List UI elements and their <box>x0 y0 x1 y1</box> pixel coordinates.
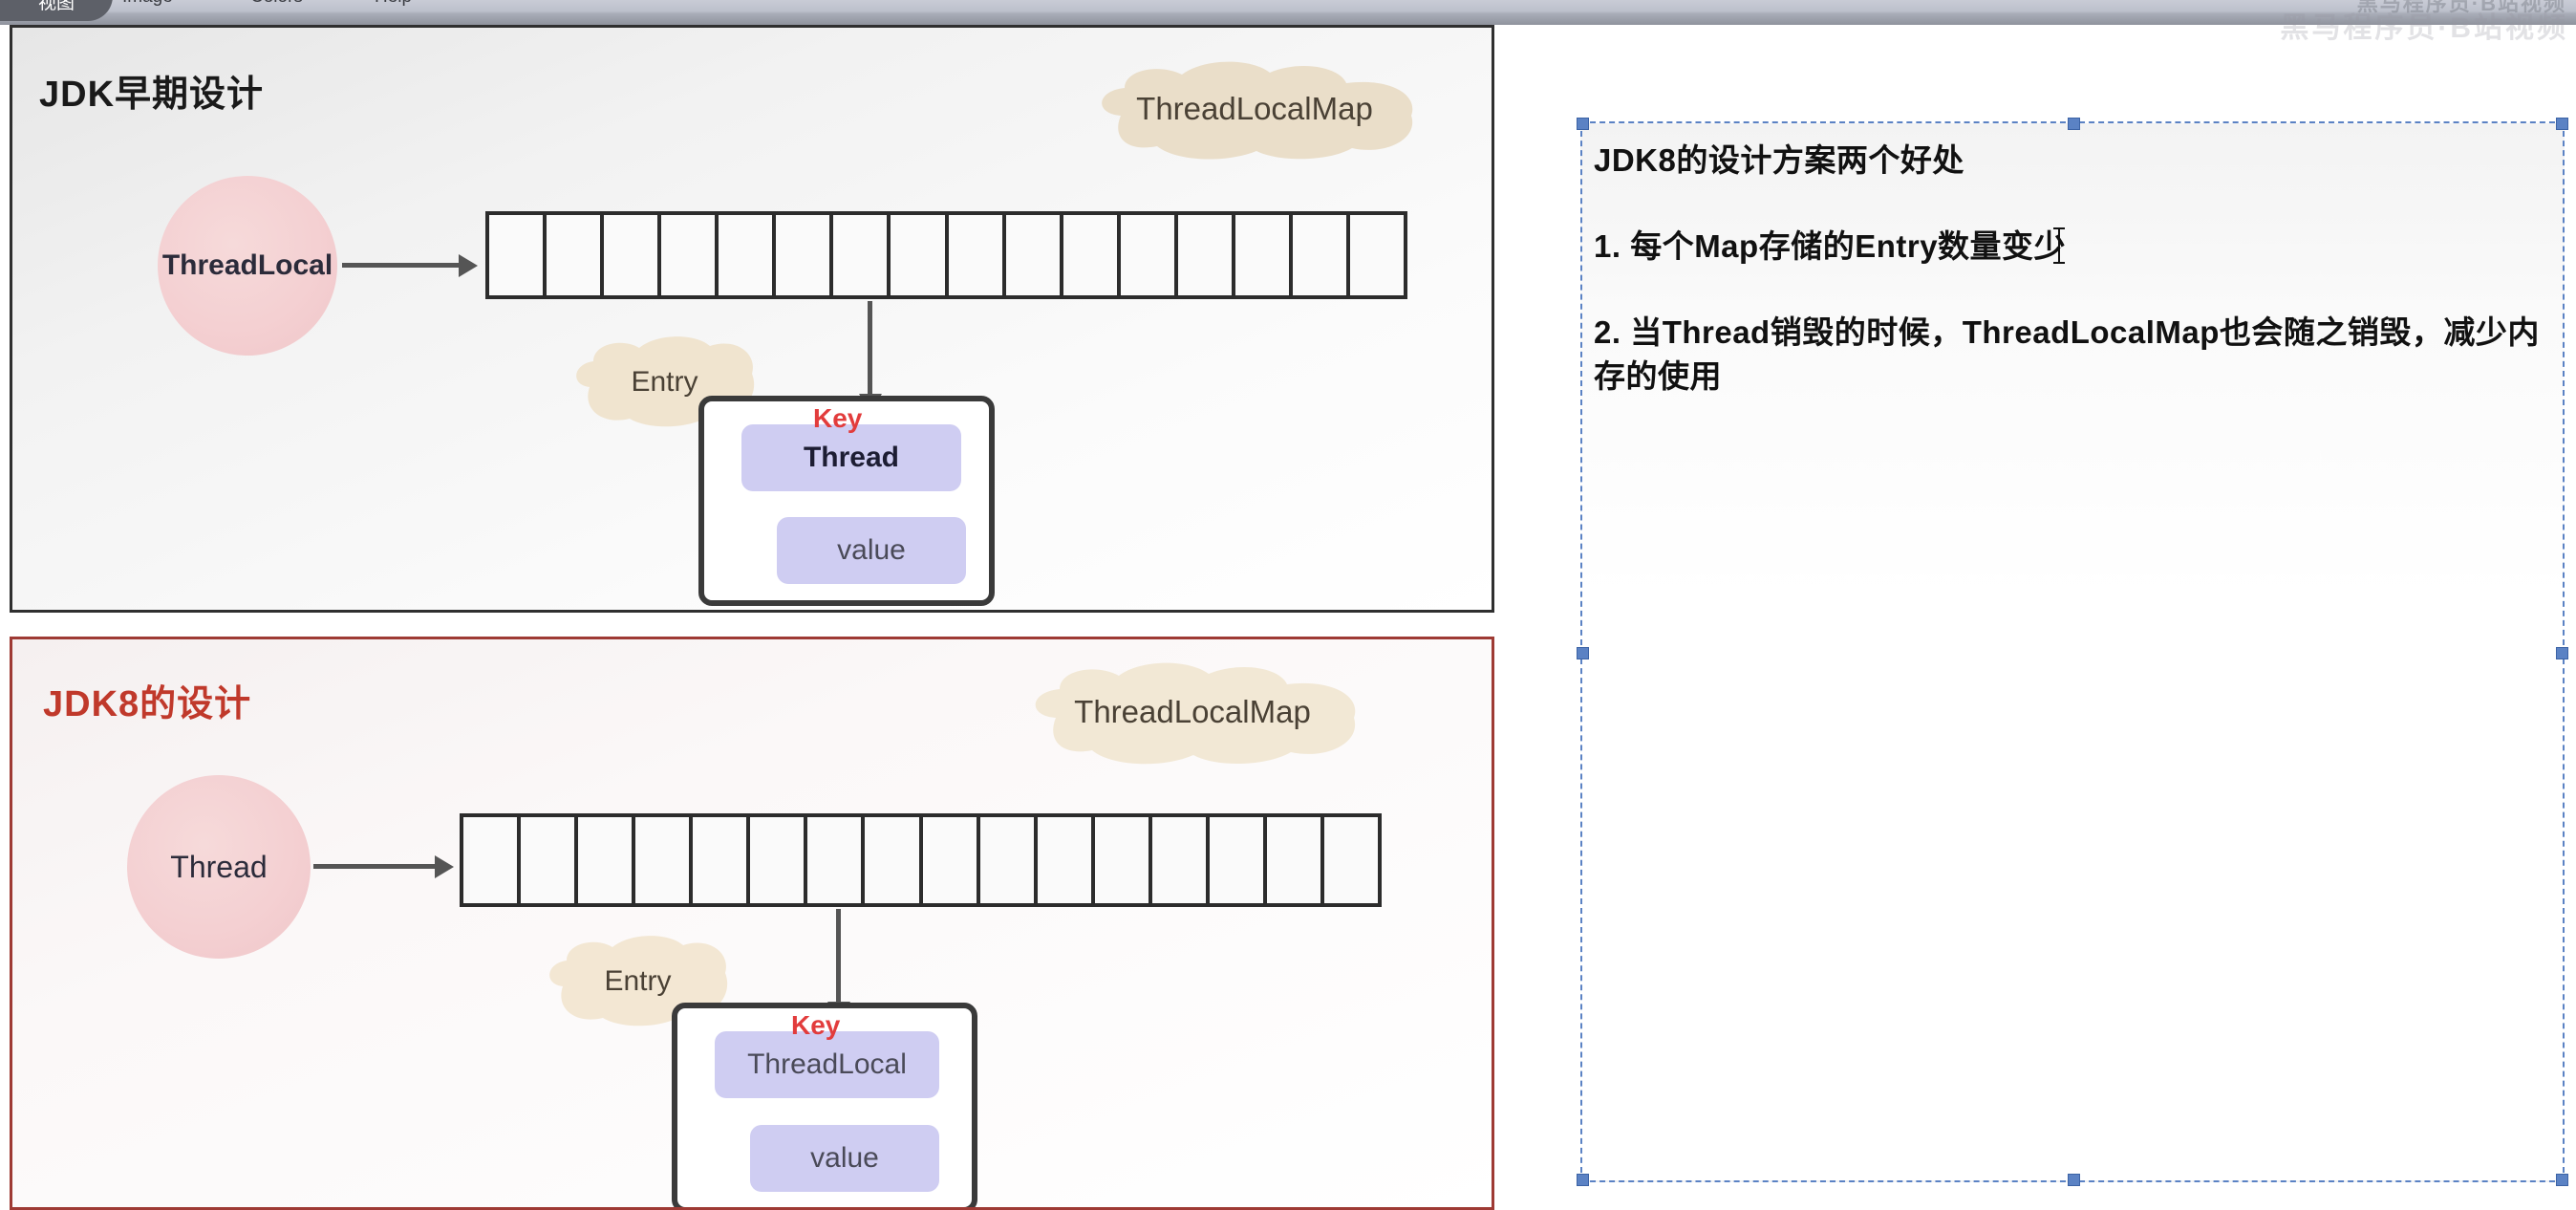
selection-handle-bottom-right[interactable] <box>2556 1174 2568 1186</box>
menu-item-image[interactable]: Image <box>122 0 173 10</box>
cloud-label-entry: Entry <box>604 965 671 998</box>
cloud-label-threadlocalmap: ThreadLocalMap <box>1074 694 1311 730</box>
arrow-threadlocal-to-map-early <box>342 263 462 268</box>
entry-value-slot-jdk8: value <box>750 1125 939 1192</box>
array-cell <box>1152 817 1210 903</box>
key-label-jdk8: Key <box>791 1010 840 1041</box>
arrow-map-to-entry-jdk8 <box>836 909 841 1005</box>
image-canvas[interactable]: JDK早期设计 ThreadLocalMap ThreadLocal <box>0 25 1500 1193</box>
array-cell <box>604 215 661 295</box>
cloud-label-threadlocalmap: ThreadLocalMap <box>1136 91 1373 127</box>
array-cell <box>635 817 693 903</box>
cloud-label-entry: Entry <box>631 366 698 399</box>
array-cell <box>833 215 891 295</box>
array-strip-jdk8 <box>460 813 1382 907</box>
notes-point-1: 1. 每个Map存储的Entry数量变少 <box>1594 225 2549 269</box>
array-cell <box>719 215 776 295</box>
array-cell <box>923 817 980 903</box>
entry-value-slot-early: value <box>777 517 966 584</box>
key-label-text: Key <box>791 1010 840 1040</box>
array-strip-early <box>485 211 1407 299</box>
cloud-threadlocalmap-early: ThreadLocalMap <box>1083 56 1427 162</box>
diagram-panel-jdk-early: JDK早期设计 ThreadLocalMap ThreadLocal <box>10 25 1494 613</box>
selection-handle-bottom-middle[interactable] <box>2068 1174 2080 1186</box>
circle-thread-jdk8: Thread <box>127 775 311 959</box>
array-cell <box>1235 215 1293 295</box>
watermark-text: 黑马程序员·B站视频 <box>2357 0 2566 17</box>
circle-threadlocal-early: ThreadLocal <box>158 176 337 356</box>
array-cell <box>1038 817 1095 903</box>
array-cell <box>1293 215 1350 295</box>
array-cell <box>1121 215 1178 295</box>
entry-key-slot-label: ThreadLocal <box>747 1048 907 1081</box>
array-cell <box>463 817 521 903</box>
key-label-text: Key <box>813 403 862 433</box>
menu-item-help[interactable]: Help <box>375 0 412 10</box>
array-cell <box>1178 215 1235 295</box>
circle-label-thread: Thread <box>170 850 267 885</box>
array-cell <box>547 215 604 295</box>
array-cell <box>1267 817 1324 903</box>
array-cell <box>1324 817 1378 903</box>
array-cell <box>521 817 578 903</box>
panel-title-jdk-early: JDK早期设计 <box>39 64 264 117</box>
array-cell <box>891 215 948 295</box>
circle-label-threadlocal: ThreadLocal <box>162 249 333 282</box>
array-cell <box>1210 817 1267 903</box>
selection-handle-middle-right[interactable] <box>2556 647 2568 659</box>
array-cell <box>1095 817 1152 903</box>
entry-key-slot-early: Thread <box>741 424 961 491</box>
menu-item-colors[interactable]: Colors <box>250 0 303 10</box>
notes-content[interactable]: JDK8的设计方案两个好处 1. 每个Map存储的Entry数量变少 2. 当T… <box>1594 139 2549 399</box>
array-cell <box>776 215 833 295</box>
array-cell <box>489 215 547 295</box>
array-cell <box>949 215 1006 295</box>
array-cell <box>865 817 922 903</box>
array-cell <box>693 817 750 903</box>
entry-key-slot-jdk8: ThreadLocal <box>715 1031 939 1098</box>
selection-handle-top-left[interactable] <box>1577 118 1589 130</box>
array-cell <box>980 817 1038 903</box>
notes-textbox[interactable]: JDK8的设计方案两个好处 1. 每个Map存储的Entry数量变少 2. 当T… <box>1580 121 2565 1182</box>
key-label-early: Key <box>813 403 862 434</box>
array-cell <box>1350 215 1404 295</box>
array-cell <box>1063 215 1121 295</box>
array-cell <box>1006 215 1063 295</box>
array-cell <box>661 215 719 295</box>
array-cell <box>807 817 865 903</box>
array-cell <box>750 817 807 903</box>
selection-handle-top-middle[interactable] <box>2068 118 2080 130</box>
text-cursor-icon <box>2058 227 2060 264</box>
selection-handle-bottom-left[interactable] <box>1577 1174 1589 1186</box>
cloud-threadlocalmap-jdk8: ThreadLocalMap <box>1016 657 1369 767</box>
selection-handle-middle-left[interactable] <box>1577 647 1589 659</box>
panel-title-jdk8: JDK8的设计 <box>43 674 251 726</box>
diagram-panel-jdk8: JDK8的设计 ThreadLocalMap Thread <box>10 637 1494 1210</box>
selection-handle-top-right[interactable] <box>2556 118 2568 130</box>
entry-value-slot-label: value <box>810 1142 879 1175</box>
arrow-map-to-entry-early <box>868 301 872 397</box>
arrow-thread-to-map-jdk8 <box>313 864 438 869</box>
notes-point-2: 2. 当Thread销毁的时候，ThreadLocalMap也会随之销毁，减少内… <box>1594 311 2549 399</box>
entry-key-slot-label: Thread <box>804 442 899 474</box>
application-menu-bar: 视图 Image Colors Help 黑马程序员·B站视频 <box>0 0 2576 25</box>
entry-value-slot-label: value <box>837 534 906 567</box>
notes-heading: JDK8的设计方案两个好处 <box>1594 139 2549 183</box>
menu-tab-view[interactable]: 视图 <box>0 0 113 21</box>
array-cell <box>578 817 635 903</box>
